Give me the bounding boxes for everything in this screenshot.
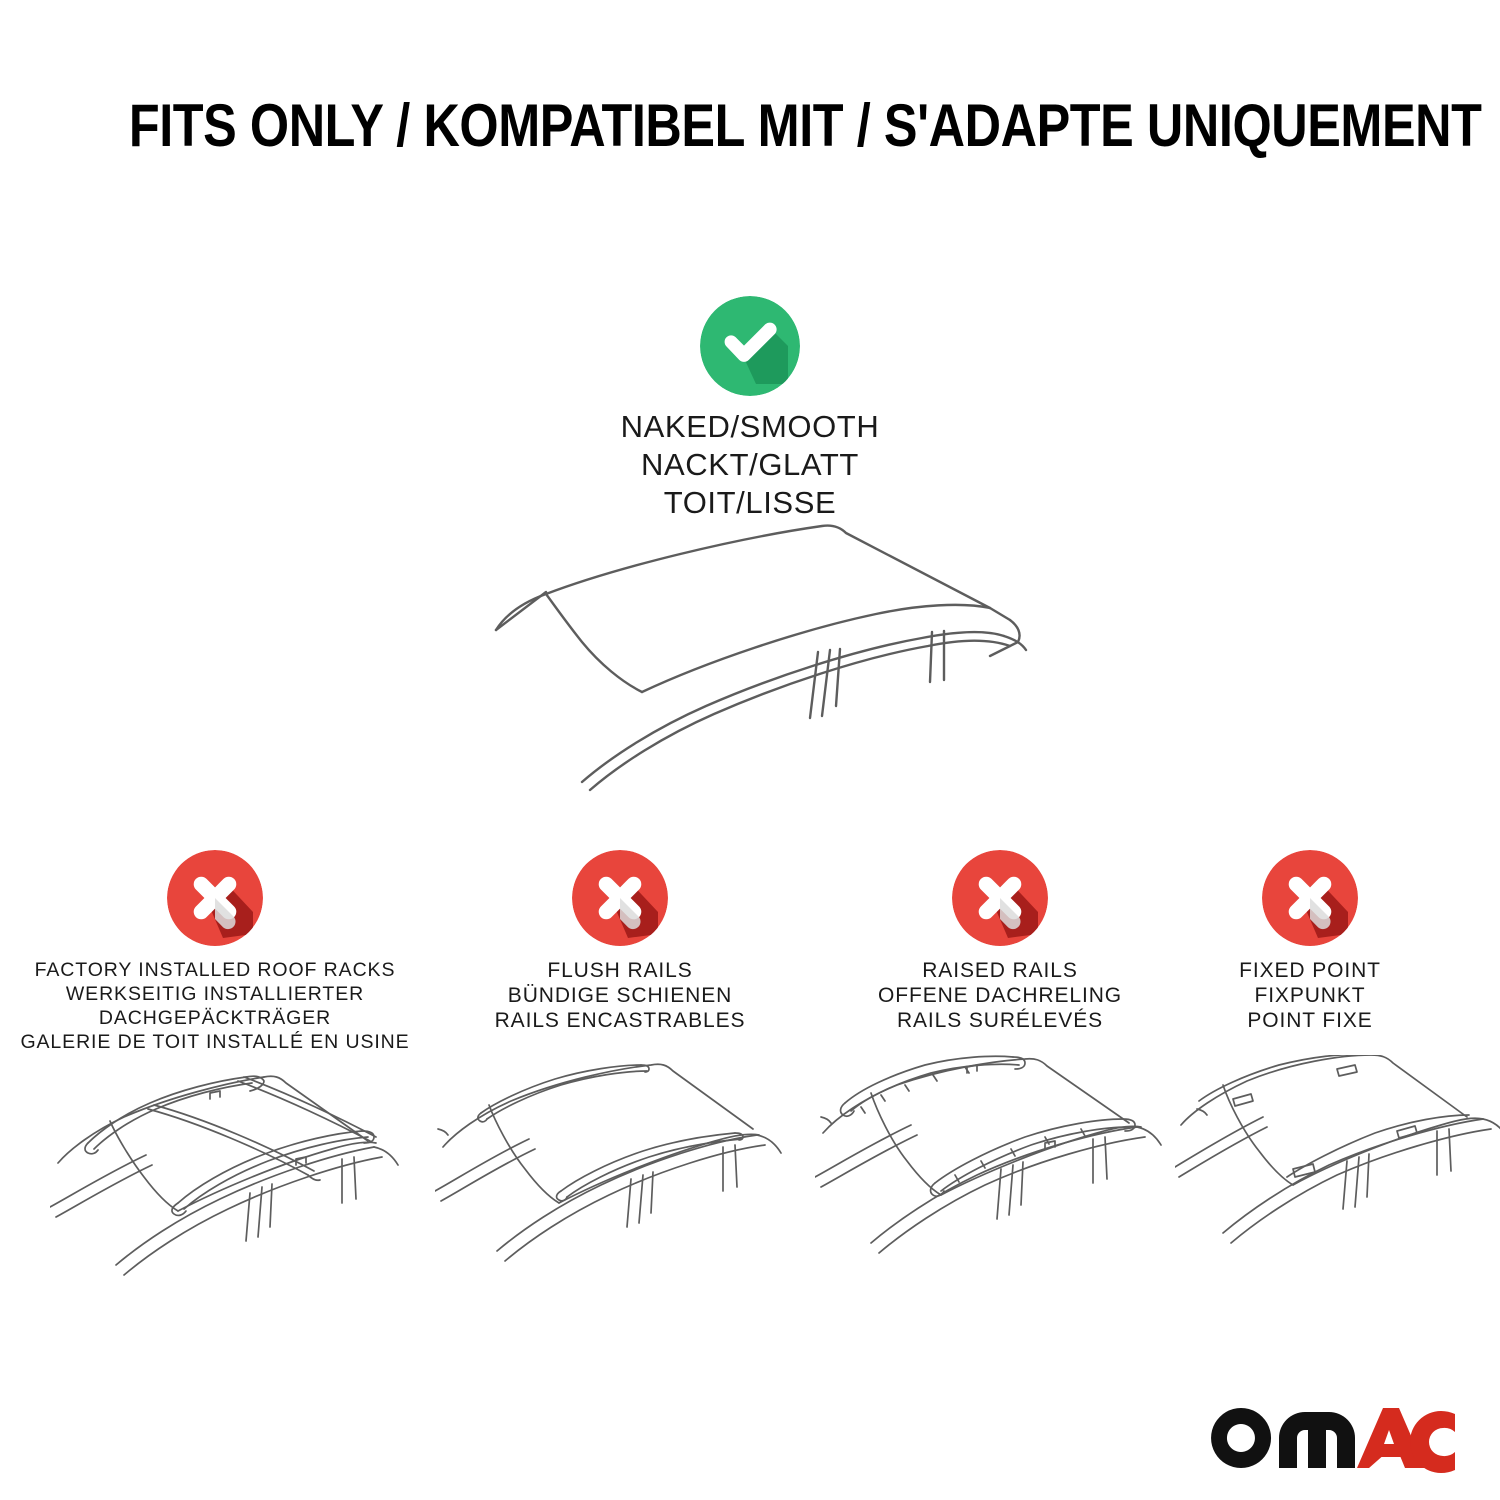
car-roof-fixed-point-illustration bbox=[1175, 1055, 1500, 1295]
raised-label-line-2: OFFENE DACHRELING bbox=[830, 983, 1170, 1008]
fixed-label-line-1: FIXED POINT bbox=[1160, 958, 1460, 983]
page-title: FITS ONLY / KOMPATIBEL MIT / S'ADAPTE UN… bbox=[0, 96, 1500, 156]
incompatible-card-raised-rails: RAISED RAILS OFFENE DACHRELING RAILS SUR… bbox=[830, 850, 1170, 1033]
check-circle-icon bbox=[700, 296, 800, 396]
car-roof-flush-rails-illustration bbox=[435, 1055, 835, 1295]
incompatible-labels-factory: FACTORY INSTALLED ROOF RACKS WERKSEITIG … bbox=[15, 958, 415, 1054]
x-circle-icon bbox=[1262, 850, 1358, 946]
factory-label-line-2: WERKSEITIG INSTALLIERTER bbox=[15, 982, 415, 1006]
compatible-card: NAKED/SMOOTH NACKT/GLATT TOIT/LISSE bbox=[450, 296, 1050, 522]
raised-label-line-1: RAISED RAILS bbox=[830, 958, 1170, 983]
flush-label-line-3: RAILS ENCASTRABLES bbox=[450, 1008, 790, 1033]
fixed-label-line-3: POINT FIXE bbox=[1160, 1008, 1460, 1033]
car-roof-raised-rails-illustration bbox=[815, 1055, 1215, 1295]
car-roof-naked-smooth-illustration bbox=[470, 510, 1050, 820]
raised-label-line-3: RAILS SURÉLEVÉS bbox=[830, 1008, 1170, 1033]
x-circle-icon bbox=[952, 850, 1048, 946]
page-title-text: FITS ONLY / KOMPATIBEL MIT / S'ADAPTE UN… bbox=[129, 96, 1482, 156]
incompatible-card-factory-roof-racks: FACTORY INSTALLED ROOF RACKS WERKSEITIG … bbox=[15, 850, 415, 1054]
x-circle-icon bbox=[572, 850, 668, 946]
incompatible-labels-fixed: FIXED POINT FIXPUNKT POINT FIXE bbox=[1160, 958, 1460, 1033]
factory-label-line-1: FACTORY INSTALLED ROOF RACKS bbox=[15, 958, 415, 982]
incompatible-labels-flush: FLUSH RAILS BÜNDIGE SCHIENEN RAILS ENCAS… bbox=[450, 958, 790, 1033]
incompatible-card-fixed-point: FIXED POINT FIXPUNKT POINT FIXE bbox=[1160, 850, 1460, 1033]
flush-label-line-2: BÜNDIGE SCHIENEN bbox=[450, 983, 790, 1008]
compatible-label-line-2: NACKT/GLATT bbox=[450, 446, 1050, 484]
incompatible-card-flush-rails: FLUSH RAILS BÜNDIGE SCHIENEN RAILS ENCAS… bbox=[450, 850, 790, 1033]
flush-label-line-1: FLUSH RAILS bbox=[450, 958, 790, 983]
incompatible-labels-raised: RAISED RAILS OFFENE DACHRELING RAILS SUR… bbox=[830, 958, 1170, 1033]
fixed-label-line-2: FIXPUNKT bbox=[1160, 983, 1460, 1008]
compatible-label-line-1: NAKED/SMOOTH bbox=[450, 408, 1050, 446]
factory-label-line-4: GALERIE DE TOIT INSTALLÉ EN USINE bbox=[15, 1030, 415, 1054]
factory-label-line-3: DACHGEPÄCKTRÄGER bbox=[15, 1006, 415, 1030]
x-circle-icon bbox=[167, 850, 263, 946]
compatible-labels: NAKED/SMOOTH NACKT/GLATT TOIT/LISSE bbox=[450, 408, 1050, 522]
car-roof-factory-rack-illustration bbox=[50, 1055, 450, 1295]
omac-logo bbox=[1205, 1398, 1455, 1478]
